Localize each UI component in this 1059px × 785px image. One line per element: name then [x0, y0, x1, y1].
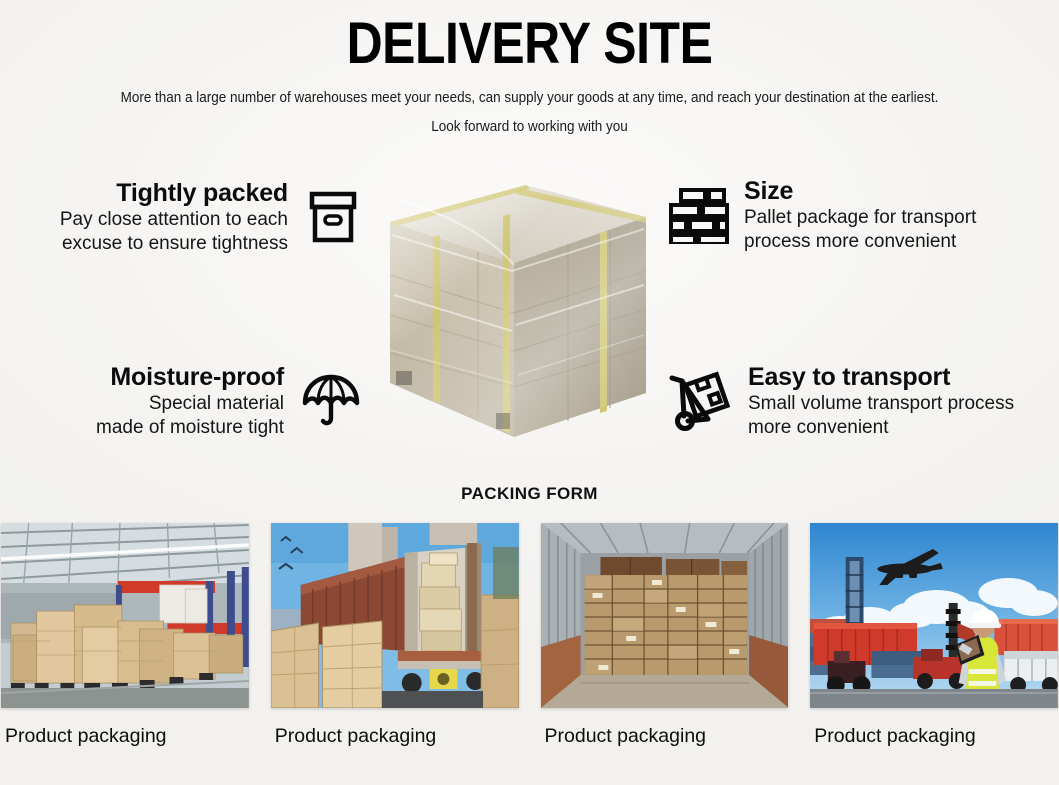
feature-tightly-packed: Tightly packed Pay close attention to ea…	[0, 178, 362, 256]
feature-title: Easy to transport	[748, 362, 1014, 392]
page-header: DELIVERY SITE More than a large number o…	[0, 14, 1059, 137]
container-interior-photo	[541, 523, 789, 708]
feature-title: Tightly packed	[60, 178, 288, 208]
feature-moisture-proof: Moisture-proof Special material made of …	[0, 362, 362, 440]
gallery-card[interactable]: Product packaging	[1, 523, 249, 773]
gallery-card[interactable]: Product packaging	[541, 523, 789, 773]
feature-desc-line-2: process more convenient	[744, 230, 976, 254]
feature-desc-line-2: excuse to ensure tightness	[60, 232, 288, 256]
shrink-wrapped-pallet-photo	[378, 175, 653, 453]
gallery-caption: Product packaging	[810, 724, 1058, 748]
gallery-caption: Product packaging	[271, 724, 519, 748]
feature-desc-line-1: Pallet package for transport	[744, 206, 976, 230]
subtitle-line-1: More than a large number of warehouses m…	[37, 88, 1022, 108]
feature-desc-line-2: made of moisture tight	[96, 416, 284, 440]
feature-text: Size Pallet package for transport proces…	[744, 176, 976, 254]
packing-form-gallery: Product packaging	[0, 523, 1059, 773]
packing-form-heading: PACKING FORM	[0, 484, 1059, 504]
feature-title: Moisture-proof	[96, 362, 284, 392]
feature-desc-line-2: more convenient	[748, 416, 1014, 440]
gallery-card[interactable]: Product packaging	[810, 523, 1058, 773]
feature-desc-line-1: Pay close attention to each	[60, 208, 288, 232]
feature-title: Size	[744, 176, 976, 206]
subtitle-line-2: Look forward to working with you	[37, 117, 1022, 137]
gallery-caption: Product packaging	[1, 724, 249, 748]
feature-size: Size Pallet package for transport proces…	[668, 176, 1059, 254]
brick-wall-icon	[668, 186, 730, 244]
feature-text: Moisture-proof Special material made of …	[96, 362, 284, 440]
warehouse-interior-photo	[1, 523, 249, 708]
hand-truck-icon	[668, 370, 734, 432]
feature-easy-to-transport: Easy to transport Small volume transport…	[668, 362, 1059, 440]
gallery-card[interactable]: Product packaging	[271, 523, 519, 773]
umbrella-icon	[300, 370, 362, 432]
feature-desc-line-1: Small volume transport process	[748, 392, 1014, 416]
feature-desc-line-1: Special material	[96, 392, 284, 416]
logistics-yard-photo	[810, 523, 1058, 708]
container-loading-photo	[271, 523, 519, 708]
feature-text: Easy to transport Small volume transport…	[748, 362, 1014, 440]
feature-text: Tightly packed Pay close attention to ea…	[60, 178, 288, 256]
gallery-caption: Product packaging	[541, 724, 789, 748]
page-title: DELIVERY SITE	[74, 14, 985, 74]
archive-box-icon	[304, 188, 362, 246]
